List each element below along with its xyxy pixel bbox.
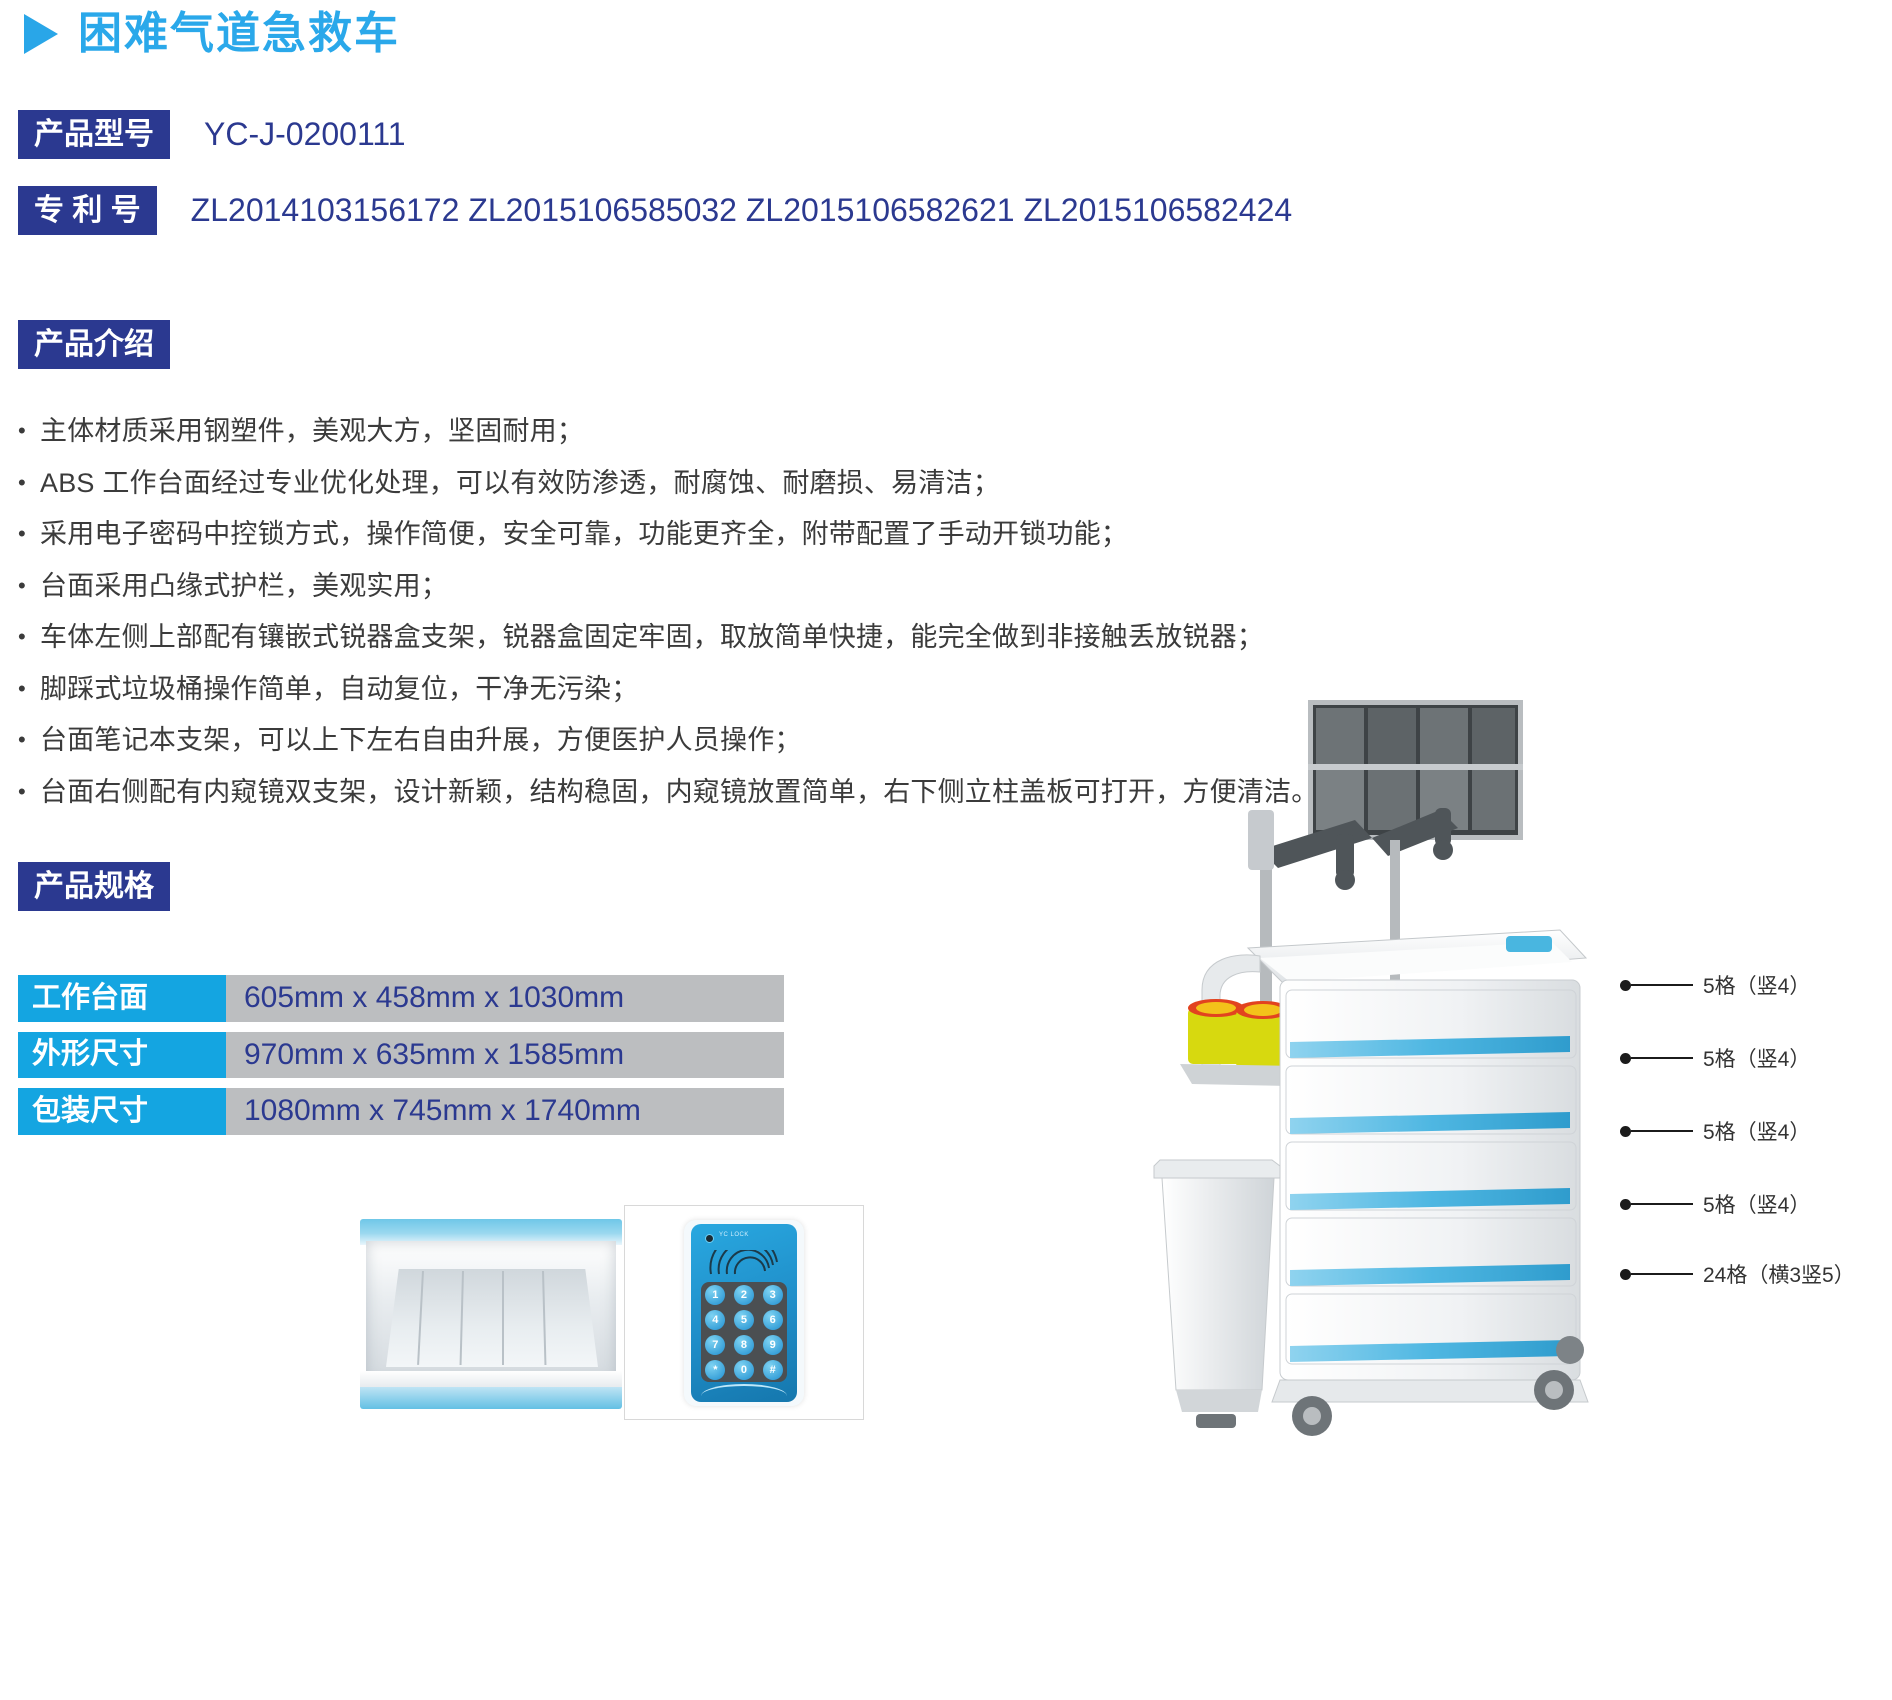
page-title: 困难气道急救车	[78, 12, 400, 56]
callout-label: 24格（横3竖5）	[1703, 1259, 1855, 1289]
cart-drawer-stack	[1280, 980, 1580, 1380]
section-header-spec: 产品规格	[18, 862, 170, 911]
bullet-dot-icon: •	[18, 418, 40, 443]
keypad-key[interactable]: 6	[763, 1310, 783, 1330]
list-item: • 车体左侧上部配有镶嵌式锐器盒支架，锐器盒固定牢固，取放简单快捷，能完全做到非…	[18, 624, 1358, 651]
emergency-cart-photo	[1140, 690, 1660, 1450]
list-item-text: 采用电子密码中控锁方式，操作简便，安全可靠，功能更齐全，附带配置了手动开锁功能；	[40, 521, 1128, 548]
table-row: 外形尺寸 970mm x 635mm x 1585mm	[18, 1032, 784, 1079]
status-led-icon	[705, 1234, 714, 1243]
callout-leader-line	[1631, 1057, 1693, 1059]
drawer-divider	[502, 1271, 504, 1365]
list-item: • 台面采用凸缘式护栏，美观实用；	[18, 573, 1358, 600]
callout-leader-line	[1631, 1203, 1693, 1205]
callout-label: 5格（竖4）	[1703, 1116, 1810, 1146]
table-row: 包装尺寸 1080mm x 745mm x 1740mm	[18, 1088, 784, 1135]
callout-pin-icon	[1620, 1053, 1631, 1064]
spec-table: 工作台面 605mm x 458mm x 1030mm 外形尺寸 970mm x…	[18, 975, 784, 1145]
field-label-model: 产品型号	[18, 110, 170, 159]
callout-pin-icon	[1620, 1269, 1631, 1280]
bullet-dot-icon: •	[18, 779, 40, 804]
field-label-patent: 专 利 号	[18, 186, 157, 235]
callout-drawer-2: 5格（竖4）	[1620, 1048, 1810, 1068]
keypad-bezel: YC LOCK 1 2 3 4 5 6 7 8 9 *	[684, 1220, 804, 1406]
keypad-key[interactable]: 9	[763, 1335, 783, 1355]
list-item: • ABS 工作台面经过专业优化处理，可以有效防渗透，耐腐蚀、耐磨损、易清洁；	[18, 470, 1358, 497]
callout-label: 5格（竖4）	[1703, 1043, 1810, 1073]
cart-work-top	[1248, 930, 1586, 982]
callout-leader-line	[1631, 1130, 1693, 1132]
callout-drawer-3: 5格（竖4）	[1620, 1121, 1810, 1141]
callout-drawer-4: 5格（竖4）	[1620, 1194, 1810, 1214]
section-header-intro: 产品介绍	[18, 320, 170, 369]
drawer-illustration	[360, 1219, 622, 1409]
triangle-right-icon	[24, 14, 58, 54]
keypad-photo: YC LOCK 1 2 3 4 5 6 7 8 9 *	[624, 1205, 864, 1420]
list-item-text: ABS 工作台面经过专业优化处理，可以有效防渗透，耐腐蚀、耐磨损、易清洁；	[40, 470, 1000, 497]
keypad-swoosh-decoration	[701, 1384, 787, 1396]
keypad-key[interactable]: 7	[705, 1335, 725, 1355]
keypad-illustration: YC LOCK 1 2 3 4 5 6 7 8 9 *	[691, 1224, 797, 1402]
bullet-dot-icon: •	[18, 573, 40, 598]
bullet-dot-icon: •	[18, 470, 40, 495]
drawer-bottom-lip	[360, 1387, 622, 1409]
keypad-key[interactable]: 8	[734, 1335, 754, 1355]
bullet-dot-icon: •	[18, 521, 40, 546]
keypad-key[interactable]: 1	[705, 1285, 725, 1305]
callout-label: 5格（竖4）	[1703, 970, 1810, 1000]
list-item-text: 脚踩式垃圾桶操作简单，自动复位，干净无污染；	[40, 676, 638, 703]
field-row-model: 产品型号 YC-J-0200111	[18, 110, 406, 159]
field-value-patent: ZL2014103156172 ZL2015106585032 ZL201510…	[191, 192, 1292, 229]
page-title-row: 困难气道急救车	[24, 12, 400, 56]
rfid-wave-icon	[707, 1250, 781, 1276]
callout-drawer-5: 24格（横3竖5）	[1620, 1264, 1855, 1284]
callout-pin-icon	[1620, 1126, 1631, 1137]
spec-value: 970mm x 635mm x 1585mm	[226, 1032, 784, 1079]
list-item-text: 台面采用凸缘式护栏，美观实用；	[40, 573, 448, 600]
drawer-photo	[360, 1219, 622, 1409]
product-catalog-page: 困难气道急救车 产品型号 YC-J-0200111 专 利 号 ZL201410…	[0, 0, 1892, 1700]
list-item-text: 主体材质采用钢塑件，美观大方，坚固耐用；	[40, 418, 584, 445]
keypad-key[interactable]: 3	[763, 1285, 783, 1305]
list-item-text: 台面右侧配有内窥镜双支架，设计新颖，结构稳固，内窥镜放置简单，右下侧立柱盖板可打…	[40, 779, 1318, 806]
cart-upper-shelf	[1308, 700, 1523, 840]
table-row: 工作台面 605mm x 458mm x 1030mm	[18, 975, 784, 1022]
bullet-dot-icon: •	[18, 624, 40, 649]
spec-key: 工作台面	[18, 975, 226, 1022]
list-item: • 采用电子密码中控锁方式，操作简便，安全可靠，功能更齐全，附带配置了手动开锁功…	[18, 521, 1358, 548]
bullet-dot-icon: •	[18, 727, 40, 752]
keypad-key[interactable]: 4	[705, 1310, 725, 1330]
spec-value: 605mm x 458mm x 1030mm	[226, 975, 784, 1022]
callout-pin-icon	[1620, 980, 1631, 991]
list-item-text: 台面笔记本支架，可以上下左右自由升展，方便医护人员操作；	[40, 727, 802, 754]
bullet-dot-icon: •	[18, 676, 40, 701]
callout-leader-line	[1631, 1273, 1693, 1275]
keypad-key[interactable]: 0	[734, 1360, 754, 1380]
cart-waste-bin	[1154, 1160, 1280, 1428]
keypad-grid[interactable]: 1 2 3 4 5 6 7 8 9 * 0 #	[701, 1282, 787, 1382]
field-row-patent: 专 利 号 ZL2014103156172 ZL2015106585032 ZL…	[18, 186, 1292, 235]
field-value-model: YC-J-0200111	[204, 116, 406, 153]
spec-key: 外形尺寸	[18, 1032, 226, 1079]
spec-value: 1080mm x 745mm x 1740mm	[226, 1088, 784, 1135]
keypad-key[interactable]: 5	[734, 1310, 754, 1330]
callout-label: 5格（竖4）	[1703, 1189, 1810, 1219]
callout-leader-line	[1631, 984, 1693, 986]
spec-key: 包装尺寸	[18, 1088, 226, 1135]
callout-pin-icon	[1620, 1199, 1631, 1210]
callout-drawer-1: 5格（竖4）	[1620, 975, 1810, 995]
keypad-key[interactable]: 2	[734, 1285, 754, 1305]
keypad-key[interactable]: #	[763, 1360, 783, 1380]
foot-pedal	[1196, 1414, 1236, 1428]
list-item-text: 车体左侧上部配有镶嵌式锐器盒支架，锐器盒固定牢固，取放简单快捷，能完全做到非接触…	[40, 624, 1264, 651]
list-item: • 主体材质采用钢塑件，美观大方，坚固耐用；	[18, 418, 1358, 445]
keypad-brand-label: YC LOCK	[719, 1232, 749, 1238]
keypad-key[interactable]: *	[705, 1360, 725, 1380]
